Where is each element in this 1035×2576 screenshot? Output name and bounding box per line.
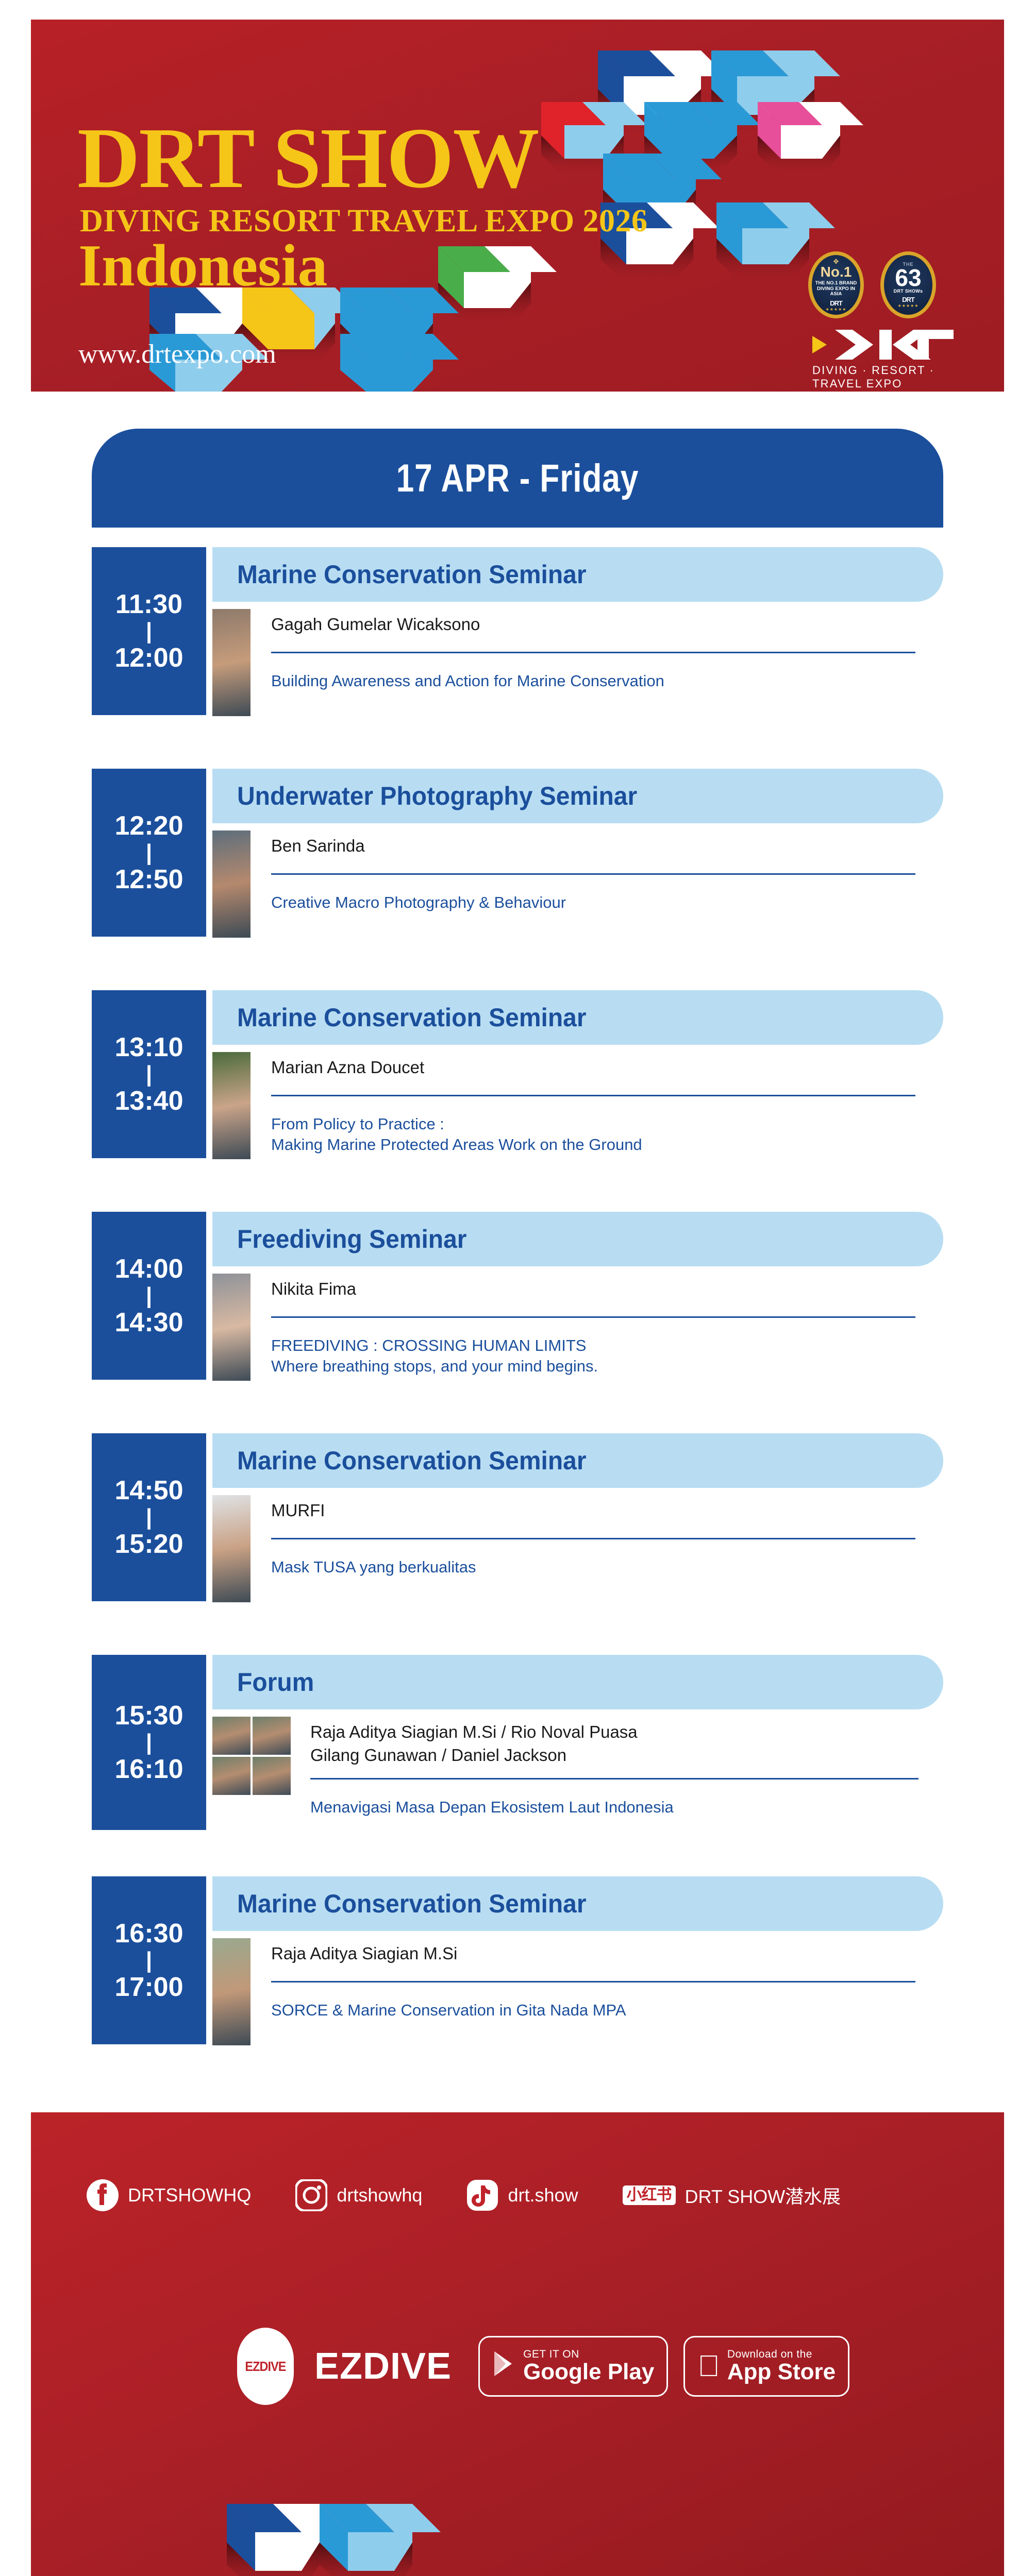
speaker-photo [212, 1274, 251, 1381]
divider [271, 652, 915, 653]
app-store-small-label: Download on the [727, 2349, 836, 2360]
drt-logo-tagline: DIVING · RESORT · TRAVEL EXPO [810, 364, 965, 391]
speaker-names: MURFI [271, 1499, 915, 1522]
session-block[interactable]: 14:50|15:20Marine Conservation SeminarMU… [92, 1433, 943, 1601]
speaker-photo [212, 1938, 251, 2045]
session-end-time: 15:20 [115, 1530, 183, 1558]
day-banner-label: 17 APR - Friday [396, 456, 639, 501]
session-category-label: Marine Conservation Seminar [237, 1889, 587, 1919]
session-block[interactable]: 12:20|12:50Underwater Photography Semina… [92, 769, 943, 937]
session-time-column: 14:50|15:20 [92, 1433, 206, 1601]
time-separator-icon: | [146, 1731, 152, 1754]
session-info: Marian Azna DoucetFrom Policy to Practic… [271, 1056, 915, 1155]
day-banner: 17 APR - Friday [92, 429, 943, 528]
speaker-names: Raja Aditya Siagian M.Si / Rio Noval Pua… [310, 1721, 919, 1767]
session-topic: Building Awareness and Action for Marine… [271, 671, 915, 691]
time-separator-icon: | [146, 620, 152, 642]
expo-subtitle: DIVING RESORT TRAVEL EXPO 2026 [80, 205, 648, 237]
speaker-names: Raja Aditya Siagian M.Si [271, 1942, 915, 1965]
app-store-button[interactable]:  Download on the App Store [683, 2336, 849, 2397]
session-category-label: Marine Conservation Seminar [237, 1446, 587, 1476]
session-end-time: 13:40 [115, 1087, 183, 1115]
session-category-bar: Freediving Seminar [212, 1212, 943, 1266]
speaker-names: Nikita Fima [271, 1278, 915, 1301]
session-info: Raja Aditya Siagian M.Si / Rio Noval Pua… [310, 1721, 919, 1818]
session-topic: FREEDIVING : CROSSING HUMAN LIMITS Where… [271, 1335, 915, 1377]
session-info: Nikita FimaFREEDIVING : CROSSING HUMAN L… [271, 1278, 915, 1377]
session-category-label: Freediving Seminar [237, 1224, 466, 1254]
divider [271, 1095, 915, 1096]
badge-no1-line2: DIVING EXPO IN ASIA [812, 286, 860, 298]
divider [271, 1316, 915, 1318]
session-topic: From Policy to Practice : Making Marine … [271, 1114, 915, 1156]
google-play-icon [492, 2350, 516, 2382]
session-topic: SORCE & Marine Conservation in Gita Nada… [271, 2000, 915, 2021]
ezdive-logo-icon: EZDIVE [237, 2328, 294, 2405]
session-category-label: Marine Conservation Seminar [237, 1003, 587, 1032]
session-time-column: 16:30|17:00 [92, 1876, 206, 2044]
session-start-time: 11:30 [115, 590, 182, 619]
session-start-time: 14:00 [115, 1255, 183, 1283]
session-info: Ben SarindaCreative Macro Photography & … [271, 835, 915, 913]
session-topic: Mask TUSA yang berkualitas [271, 1557, 915, 1578]
time-separator-icon: | [146, 1284, 152, 1307]
session-category-label: Marine Conservation Seminar [237, 560, 587, 589]
session-time-column: 11:30|12:00 [92, 547, 206, 715]
instagram-icon [295, 2179, 327, 2211]
page-title: DRT SHOW [77, 115, 539, 201]
country-name: Indonesia [78, 236, 328, 296]
session-category-label: Forum [237, 1667, 314, 1697]
session-block[interactable]: 14:00|14:30Freediving SeminarNikita Fima… [92, 1212, 943, 1380]
badge-63-number: 63 [895, 267, 921, 289]
session-time-column: 13:10|13:40 [92, 990, 206, 1158]
social-link-facebook[interactable]: DRTSHOWHQ [87, 2179, 251, 2211]
time-separator-icon: | [146, 1506, 152, 1529]
session-info: Raja Aditya Siagian M.SiSORCE & Marine C… [271, 1942, 915, 2021]
tiktok-icon [466, 2179, 498, 2211]
speaker-photo [212, 831, 251, 938]
session-body: MURFIMask TUSA yang berkualitas [212, 1488, 943, 1601]
session-end-time: 12:50 [115, 865, 183, 894]
badge-no1-rank: No.1 [821, 265, 852, 279]
speaker-photo [212, 609, 251, 716]
session-body: Nikita FimaFREEDIVING : CROSSING HUMAN L… [212, 1266, 943, 1380]
session-time-column: 12:20|12:50 [92, 769, 206, 937]
badge-no1-brand: ✥ No.1 THE NO.1 BRAND DIVING EXPO IN ASI… [808, 251, 864, 318]
session-time-column: 14:00|14:30 [92, 1212, 206, 1380]
session-end-time: 12:00 [115, 643, 183, 672]
drt-logo-arrow-icon [810, 330, 831, 360]
session-start-time: 13:10 [115, 1033, 183, 1062]
session-start-time: 15:30 [115, 1701, 183, 1730]
facebook-handle: DRTSHOWHQ [128, 2184, 251, 2206]
session-block[interactable]: 16:30|17:00Marine Conservation SeminarRa… [92, 1876, 943, 2044]
speaker-photo [253, 1757, 291, 1795]
session-block[interactable]: 13:10|13:40Marine Conservation SeminarMa… [92, 990, 943, 1158]
speaker-names: Marian Azna Doucet [271, 1056, 915, 1079]
speaker-photo [212, 1495, 251, 1602]
session-block[interactable]: 15:30|16:10ForumRaja Aditya Siagian M.Si… [92, 1655, 943, 1830]
xiaohongshu-icon: 小红书 [623, 2185, 676, 2205]
badge-no1-line1: THE NO.1 BRAND [815, 281, 857, 286]
session-body: Raja Aditya Siagian M.SiSORCE & Marine C… [212, 1931, 943, 2044]
website-url[interactable]: www.drtexpo.com [78, 339, 276, 369]
badge-no1-drt-mark: DRT [830, 299, 842, 307]
time-separator-icon: | [146, 1063, 152, 1086]
social-link-xiaohongshu[interactable]: 小红书 DRT SHOW潜水展 [623, 2182, 841, 2209]
session-info: Gagah Gumelar WicaksonoBuilding Awarenes… [271, 613, 915, 691]
session-topic: Menavigasi Masa Depan Ekosistem Laut Ind… [310, 1797, 919, 1818]
time-separator-icon: | [146, 841, 152, 864]
social-link-tiktok[interactable]: drt.show [466, 2179, 578, 2211]
session-category-bar: Forum [212, 1655, 943, 1709]
session-end-time: 17:00 [115, 1973, 183, 2002]
session-body: Gagah Gumelar WicaksonoBuilding Awarenes… [212, 602, 943, 715]
session-topic: Creative Macro Photography & Behaviour [271, 892, 915, 913]
badge-63-shows: THE 63 DRT SHOWs DRT ★★★★★ [880, 251, 936, 318]
speaker-names: Gagah Gumelar Wicaksono [271, 613, 915, 636]
speaker-names: Ben Sarinda [271, 835, 915, 858]
footer: DRTSHOWHQ drtshowhq drt.show 小 [31, 2112, 1004, 2576]
social-link-instagram[interactable]: drtshowhq [295, 2179, 422, 2211]
session-category-bar: Marine Conservation Seminar [212, 547, 943, 602]
divider [271, 1981, 915, 1982]
facebook-icon [87, 2179, 119, 2211]
session-body: Raja Aditya Siagian M.Si / Rio Noval Pua… [212, 1709, 943, 1830]
speaker-photo [212, 1052, 251, 1159]
divider [310, 1778, 919, 1780]
badge-63-label: DRT SHOWs [894, 289, 923, 294]
session-body: Ben SarindaCreative Macro Photography & … [212, 823, 943, 937]
google-play-small-label: GET IT ON [523, 2349, 654, 2360]
session-start-time: 16:30 [115, 1919, 183, 1948]
time-separator-icon: | [146, 1949, 152, 1972]
divider [271, 1538, 915, 1539]
speaker-photo [212, 1757, 251, 1795]
session-body: Marian Azna DoucetFrom Policy to Practic… [212, 1045, 943, 1158]
tiktok-handle: drt.show [508, 2184, 578, 2206]
badge-stars-icon: ★★★★★ [826, 307, 847, 312]
ezdive-wordmark: EZDIVE [314, 2345, 452, 2387]
session-category-bar: Underwater Photography Seminar [212, 769, 943, 823]
apple-icon:  [697, 2351, 720, 2381]
session-end-time: 16:10 [115, 1755, 183, 1784]
xiaohongshu-handle: DRT SHOW潜水展 [685, 2182, 841, 2209]
app-store-big-label: App Store [727, 2360, 836, 2384]
session-start-time: 12:20 [115, 811, 183, 840]
drt-logo: DIVING · RESORT · TRAVEL EXPO [810, 329, 965, 391]
session-category-label: Underwater Photography Seminar [237, 781, 637, 811]
session-info: MURFIMask TUSA yang berkualitas [271, 1499, 915, 1578]
social-links-row: DRTSHOWHQ drtshowhq drt.show 小 [87, 2179, 841, 2211]
google-play-big-label: Google Play [523, 2360, 654, 2384]
session-category-bar: Marine Conservation Seminar [212, 990, 943, 1045]
speaker-photo [212, 1717, 251, 1755]
session-start-time: 14:50 [115, 1476, 183, 1505]
badge-63-drt-mark: DRT [902, 296, 914, 303]
header-banner: DRT SHOW DIVING RESORT TRAVEL EXPO 2026 … [31, 20, 1004, 392]
speaker-photo-grid [212, 1717, 291, 1795]
badge-stars-icon: ★★★★★ [898, 303, 919, 308]
session-end-time: 14:30 [115, 1308, 183, 1337]
session-time-column: 15:30|16:10 [92, 1655, 206, 1830]
divider [271, 873, 915, 875]
ezdive-logo-text: EZDIVE [245, 2359, 286, 2375]
speaker-photo [253, 1717, 291, 1755]
session-category-bar: Marine Conservation Seminar [212, 1876, 943, 1931]
session-block[interactable]: 11:30|12:00Marine Conservation SeminarGa… [92, 547, 943, 715]
session-category-bar: Marine Conservation Seminar [212, 1433, 943, 1488]
instagram-handle: drtshowhq [337, 2184, 422, 2206]
google-play-button[interactable]: GET IT ON Google Play [478, 2336, 668, 2397]
app-download-row: EZDIVE EZDIVE GET IT ON Google Play  Do… [237, 2328, 849, 2405]
drt-logo-mark-icon [835, 329, 954, 361]
